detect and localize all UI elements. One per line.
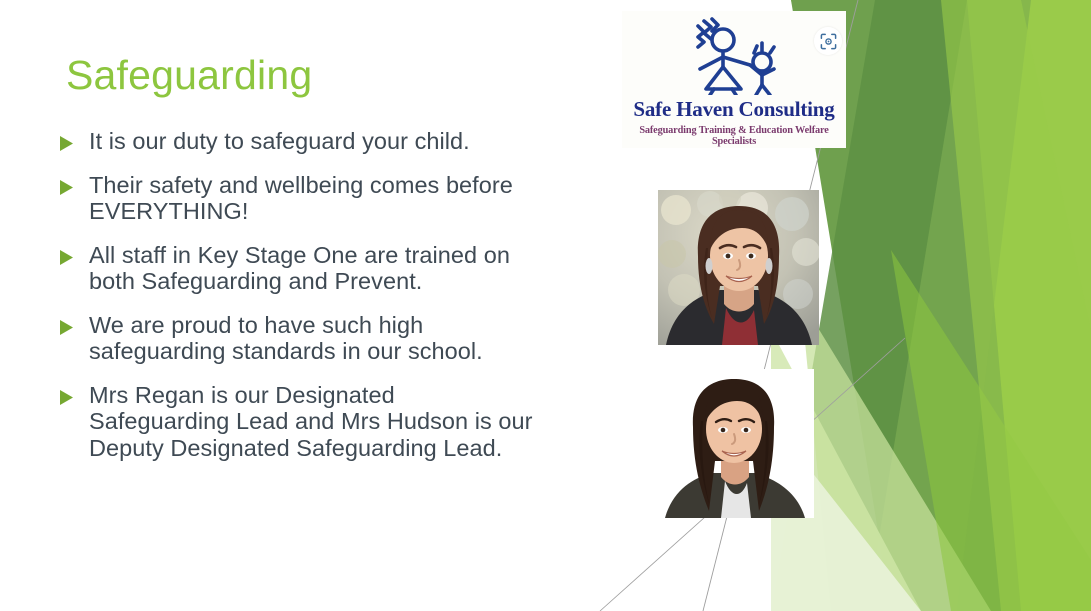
list-item: It is our duty to safeguard your child. [60,128,536,155]
triangle-right-icon [60,320,74,335]
list-item: Their safety and wellbeing comes before … [60,172,536,225]
two-stick-figures-icon [678,17,790,100]
logo-tagline-text: Safeguarding Training & Education Welfar… [622,125,846,147]
list-item: All staff in Key Stage One are trained o… [60,242,536,295]
list-item: We are proud to have such high safeguard… [60,312,536,365]
presentation-slide: Safeguarding It is our duty to safeguard… [0,0,1091,611]
list-item-text: Mrs Regan is our Designated Safeguarding… [89,382,536,462]
triangle-right-icon [60,250,74,265]
safe-haven-consulting-logo: Safe Haven Consulting Safeguarding Train… [622,11,846,148]
bullet-list: It is our duty to safeguard your child. … [60,128,536,478]
staff-portrait-one [658,190,819,345]
triangle-right-icon [60,180,74,195]
staff-portrait-two [655,369,814,518]
triangle-right-icon [60,390,74,405]
list-item-text: All staff in Key Stage One are trained o… [89,242,536,295]
image-search-lens-icon[interactable] [814,27,842,55]
list-item: Mrs Regan is our Designated Safeguarding… [60,382,536,462]
list-item-text: Their safety and wellbeing comes before … [89,172,536,225]
page-title: Safeguarding [66,52,312,99]
triangle-right-icon [60,136,74,151]
list-item-text: We are proud to have such high safeguard… [89,312,536,365]
logo-name-text: Safe Haven Consulting [622,97,846,122]
list-item-text: It is our duty to safeguard your child. [89,128,536,155]
